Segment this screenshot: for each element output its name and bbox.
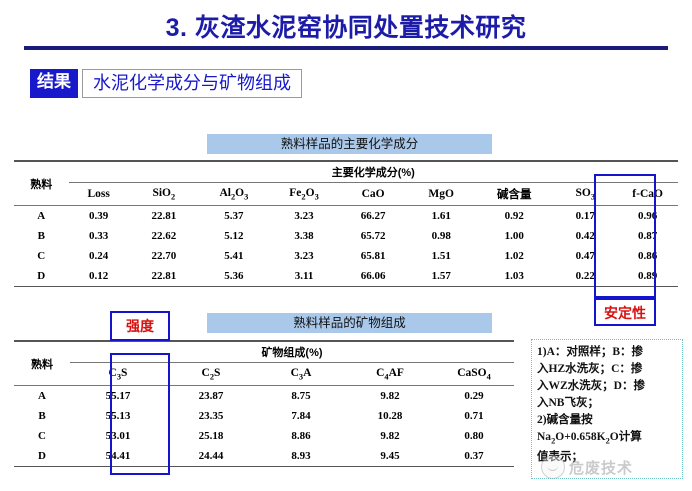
table2-row-label: C	[14, 426, 70, 446]
table2-cell: 0.29	[434, 386, 514, 407]
table-row: C 53.01 25.18 8.86 9.82 0.80	[14, 426, 514, 446]
stability-label: 安定性	[594, 298, 656, 326]
table1-col-mgo: MgO	[407, 183, 475, 206]
table1-row-label: D	[14, 266, 69, 287]
table1-cell: 3.11	[269, 266, 339, 287]
table1-cell: 1.02	[475, 246, 553, 266]
table1-col-fcao: f-CaO	[617, 183, 678, 206]
table1-caption: 熟料样品的主要化学成分	[207, 134, 492, 154]
table1-row-label: A	[14, 206, 69, 227]
table1-cell: 1.00	[475, 226, 553, 246]
table1-cell: 1.51	[407, 246, 475, 266]
table2-group-header: 矿物组成(%)	[70, 341, 514, 363]
table1-cell: 0.98	[407, 226, 475, 246]
note-line-6: Na2O+0.658K2O计算	[537, 429, 679, 449]
table1-group-header: 主要化学成分(%)	[69, 161, 678, 183]
table1-cell: 5.41	[199, 246, 269, 266]
table1-cell: 0.47	[553, 246, 617, 266]
table2-col-c2s: C2S	[166, 363, 256, 386]
table1-row-label: C	[14, 246, 69, 266]
result-badge: 结果	[30, 69, 78, 98]
table-row: C 0.24 22.70 5.41 3.23 65.81 1.51 1.02 0…	[14, 246, 678, 266]
table1-col-fe2o3: Fe2O3	[269, 183, 339, 206]
table1-col-al2o3: Al2O3	[199, 183, 269, 206]
note-line-4: 入NB飞灰；	[537, 395, 679, 412]
note-line-5: 2)碱含量按	[537, 412, 679, 429]
table1-col-so3: SO3	[553, 183, 617, 206]
table1-column-header-row: Loss SiO2 Al2O3 Fe2O3 CaO MgO 碱含量 SO3 f-…	[14, 183, 678, 206]
table2-group-header-row: 熟料 矿物组成(%)	[14, 341, 514, 363]
note-line-3: 入WZ水洗灰；D：掺	[537, 378, 679, 395]
table1-cell: 1.57	[407, 266, 475, 287]
table2-cell: 54.41	[70, 446, 166, 467]
table2-caption: 熟料样品的矿物组成	[207, 313, 492, 333]
table1-col-sio2: SiO2	[129, 183, 199, 206]
table1-row-label-header: 熟料	[14, 161, 69, 206]
table-row: D 54.41 24.44 8.93 9.45 0.37	[14, 446, 514, 467]
table2-row-label: D	[14, 446, 70, 467]
table2-cell: 25.18	[166, 426, 256, 446]
table2-cell: 23.87	[166, 386, 256, 407]
note-line-2: 入HZ水洗灰；C：掺	[537, 361, 679, 378]
table1-cell: 66.06	[339, 266, 407, 287]
table1-cell: 3.23	[269, 206, 339, 227]
table2-cell: 8.75	[256, 386, 346, 407]
table1-cell: 0.17	[553, 206, 617, 227]
table1-cell: 22.81	[129, 206, 199, 227]
table2-col-c3s: C3S	[70, 363, 166, 386]
table1-col-alkali: 碱含量	[475, 183, 553, 206]
table1-row-label: B	[14, 226, 69, 246]
table1-cell: 1.03	[475, 266, 553, 287]
table1-cell: 0.24	[69, 246, 129, 266]
table-row: A 0.39 22.81 5.37 3.23 66.27 1.61 0.92 0…	[14, 206, 678, 227]
table-row: B 0.33 22.62 5.12 3.38 65.72 0.98 1.00 0…	[14, 226, 678, 246]
table1-cell: 0.89	[617, 266, 678, 287]
table1-col-loss: Loss	[69, 183, 129, 206]
table1-cell: 0.86	[617, 246, 678, 266]
table2-row-label: B	[14, 406, 70, 426]
table1-cell: 0.87	[617, 226, 678, 246]
note-line-1: 1)A：对照样；B：掺	[537, 344, 679, 361]
table1-cell: 5.37	[199, 206, 269, 227]
table2-row-label: A	[14, 386, 70, 407]
table2-cell: 0.71	[434, 406, 514, 426]
table1-cell: 22.81	[129, 266, 199, 287]
table1-cell: 22.70	[129, 246, 199, 266]
table1-cell: 3.23	[269, 246, 339, 266]
strength-label: 强度	[110, 311, 170, 341]
table1-cell: 0.33	[69, 226, 129, 246]
table2-col-c4af: C4AF	[346, 363, 434, 386]
table2-cell: 0.37	[434, 446, 514, 467]
table2-cell: 9.45	[346, 446, 434, 467]
note-box: 1)A：对照样；B：掺 入HZ水洗灰；C：掺 入WZ水洗灰；D：掺 入NB飞灰；…	[531, 339, 683, 479]
table2-col-caso4: CaSO4	[434, 363, 514, 386]
table2-cell: 0.80	[434, 426, 514, 446]
table2-cell: 9.82	[346, 386, 434, 407]
note-line-7: 值表示；	[537, 449, 679, 466]
table2-cell: 8.86	[256, 426, 346, 446]
table1-group-header-row: 熟料 主要化学成分(%)	[14, 161, 678, 183]
table1-cell: 0.22	[553, 266, 617, 287]
table2-cell: 23.35	[166, 406, 256, 426]
table2-column-header-row: C3S C2S C3A C4AF CaSO4	[14, 363, 514, 386]
table1-cell: 5.12	[199, 226, 269, 246]
table2-cell: 9.82	[346, 426, 434, 446]
mineral-composition-table: 熟料 矿物组成(%) C3S C2S C3A C4AF CaSO4 A 55.1…	[14, 340, 514, 467]
table-row: D 0.12 22.81 5.36 3.11 66.06 1.57 1.03 0…	[14, 266, 678, 287]
title-divider	[24, 46, 668, 50]
page-title: 3. 灰渣水泥窑协同处置技术研究	[0, 8, 692, 44]
table1-cell: 0.39	[69, 206, 129, 227]
table2-row-label-header: 熟料	[14, 341, 70, 386]
table1-cell: 3.38	[269, 226, 339, 246]
table1-col-cao: CaO	[339, 183, 407, 206]
table1-cell: 66.27	[339, 206, 407, 227]
result-subtitle-box: 水泥化学成分与矿物组成	[82, 69, 302, 98]
table2-cell: 24.44	[166, 446, 256, 467]
table2-cell: 53.01	[70, 426, 166, 446]
table-row: A 55.17 23.87 8.75 9.82 0.29	[14, 386, 514, 407]
table2-cell: 10.28	[346, 406, 434, 426]
table1-cell: 65.72	[339, 226, 407, 246]
table1-cell: 0.12	[69, 266, 129, 287]
table1-cell: 65.81	[339, 246, 407, 266]
table1-cell: 0.96	[617, 206, 678, 227]
table2-cell: 55.13	[70, 406, 166, 426]
table1-cell: 0.92	[475, 206, 553, 227]
table1-cell: 1.61	[407, 206, 475, 227]
table1-cell: 5.36	[199, 266, 269, 287]
table2-cell: 7.84	[256, 406, 346, 426]
table1-cell: 22.62	[129, 226, 199, 246]
table2-cell: 55.17	[70, 386, 166, 407]
table-row: B 55.13 23.35 7.84 10.28 0.71	[14, 406, 514, 426]
result-tag-row: 结果 水泥化学成分与矿物组成	[30, 69, 302, 98]
slide-root: 3. 灰渣水泥窑协同处置技术研究 结果 水泥化学成分与矿物组成 熟料样品的主要化…	[0, 0, 692, 491]
chemical-composition-table: 熟料 主要化学成分(%) Loss SiO2 Al2O3 Fe2O3 CaO M…	[14, 160, 678, 287]
table2-col-c3a: C3A	[256, 363, 346, 386]
table2-cell: 8.93	[256, 446, 346, 467]
table1-cell: 0.42	[553, 226, 617, 246]
